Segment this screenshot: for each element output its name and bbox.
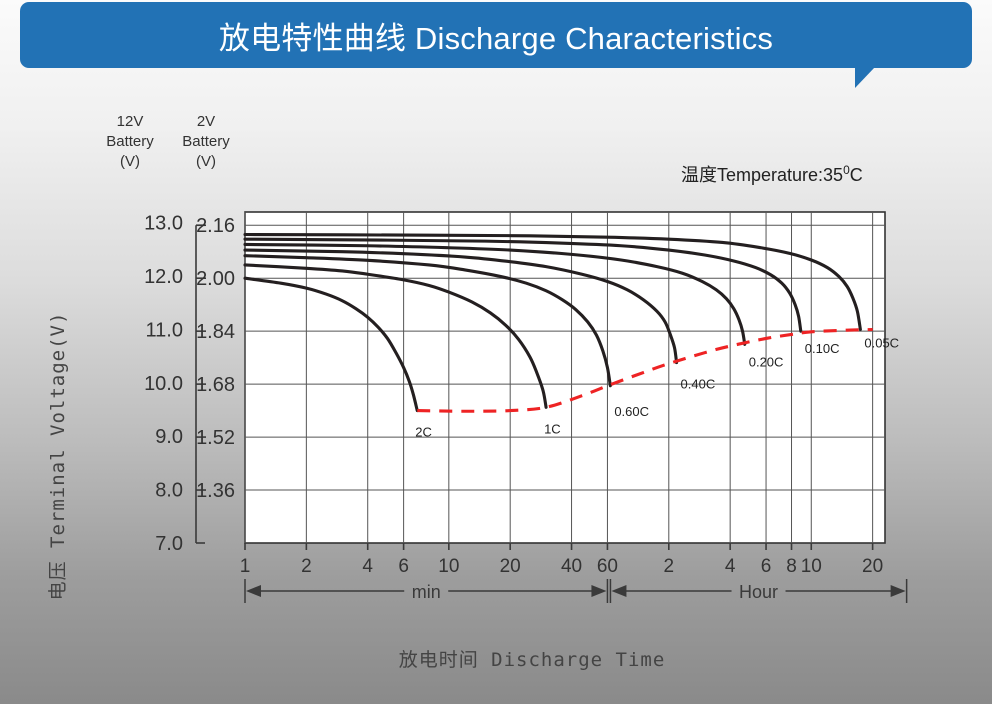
curve-label-0_40C: 0.40C (681, 377, 716, 392)
curve-label-0_60C: 0.60C (614, 404, 649, 419)
plot-background (245, 212, 885, 543)
header-12v-line3: (V) (120, 153, 140, 170)
chart-canvas: 12V Battery (V) 2V Battery (V) 温度Tempera… (0, 86, 992, 704)
x-tick-3: 6 (398, 556, 409, 577)
y-right-tick-5: 1.36 (196, 480, 235, 502)
y-right-tick-2: 1.84 (196, 321, 235, 343)
temperature-label: 温度Temperature:350C (681, 163, 863, 185)
curve-label-0_20C: 0.20C (749, 354, 784, 369)
x-tick-2: 4 (362, 556, 373, 577)
range-label-hour: Hour (739, 582, 778, 602)
y-left-tick-0: 13.0 (144, 213, 183, 235)
x-tick-1: 2 (301, 556, 312, 577)
curve-label-2C: 2C (415, 425, 432, 440)
temperature-text: 温度Temperature:35 (681, 165, 843, 185)
y-right-tick-4: 1.52 (196, 427, 235, 449)
header-banner-area: 放电特性曲线 Discharge Characteristics (0, 0, 992, 86)
page-title: 放电特性曲线 Discharge Characteristics (219, 13, 773, 58)
x-tick-8: 2 (664, 556, 675, 577)
y-axis-title: 电压 Terminal Voltage(V) (47, 312, 69, 601)
curve-label-1C: 1C (544, 421, 561, 436)
x-tick-6: 40 (561, 556, 582, 577)
curve-label-0_05C: 0.05C (864, 336, 899, 351)
x-tick-9: 4 (725, 556, 736, 577)
y-left-tick-2: 11.0 (146, 319, 183, 341)
x-tick-4: 10 (438, 556, 459, 577)
range-arrowhead-min-left (246, 585, 261, 597)
y-left-tick-1: 12.0 (144, 266, 183, 288)
range-label-min: min (412, 582, 441, 602)
x-tick-13: 20 (862, 556, 883, 577)
y-right-tick-1: 2.00 (196, 268, 235, 290)
x-tick-12: 10 (801, 556, 822, 577)
header-2v-line3: (V) (196, 153, 216, 170)
x-tick-7: 60 (597, 556, 618, 577)
range-arrowhead-min-right (591, 585, 606, 597)
y-left-tick-6: 7.0 (155, 533, 183, 555)
temperature-annotation: 温度Temperature:350C (681, 163, 863, 185)
y-right-tick-3: 1.68 (196, 374, 235, 396)
header-banner: 放电特性曲线 Discharge Characteristics (20, 2, 972, 68)
curve-label-0_10C: 0.10C (805, 341, 840, 356)
temperature-unit: C (850, 165, 863, 185)
x-tick-0: 1 (240, 556, 251, 577)
header-2v-line1: 2V (197, 113, 215, 130)
y-left-tick-5: 8.0 (155, 480, 183, 502)
axis-column-headers: 12V Battery (V) 2V Battery (V) (106, 113, 230, 170)
header-12v-line1: 12V (117, 113, 144, 130)
banner-tail-icon (855, 67, 921, 88)
y-right-tick-0: 2.16 (196, 215, 235, 237)
x-tick-11: 8 (786, 556, 797, 577)
x-tick-10: 6 (761, 556, 772, 577)
discharge-characteristics-chart: 12V Battery (V) 2V Battery (V) 温度Tempera… (0, 86, 992, 704)
header-2v-line2: Battery (182, 133, 230, 150)
plot-area: 13.012.011.010.09.08.07.02.162.001.841.6… (144, 212, 907, 603)
range-arrowhead-hour-left (611, 585, 626, 597)
range-arrowhead-hour-right (891, 585, 906, 597)
x-tick-5: 20 (500, 556, 521, 577)
x-axis-title: 放电时间 Discharge Time (399, 649, 666, 671)
header-12v-line2: Battery (106, 133, 154, 150)
y-left-tick-3: 10.0 (144, 373, 183, 395)
y-left-tick-4: 9.0 (155, 426, 183, 448)
